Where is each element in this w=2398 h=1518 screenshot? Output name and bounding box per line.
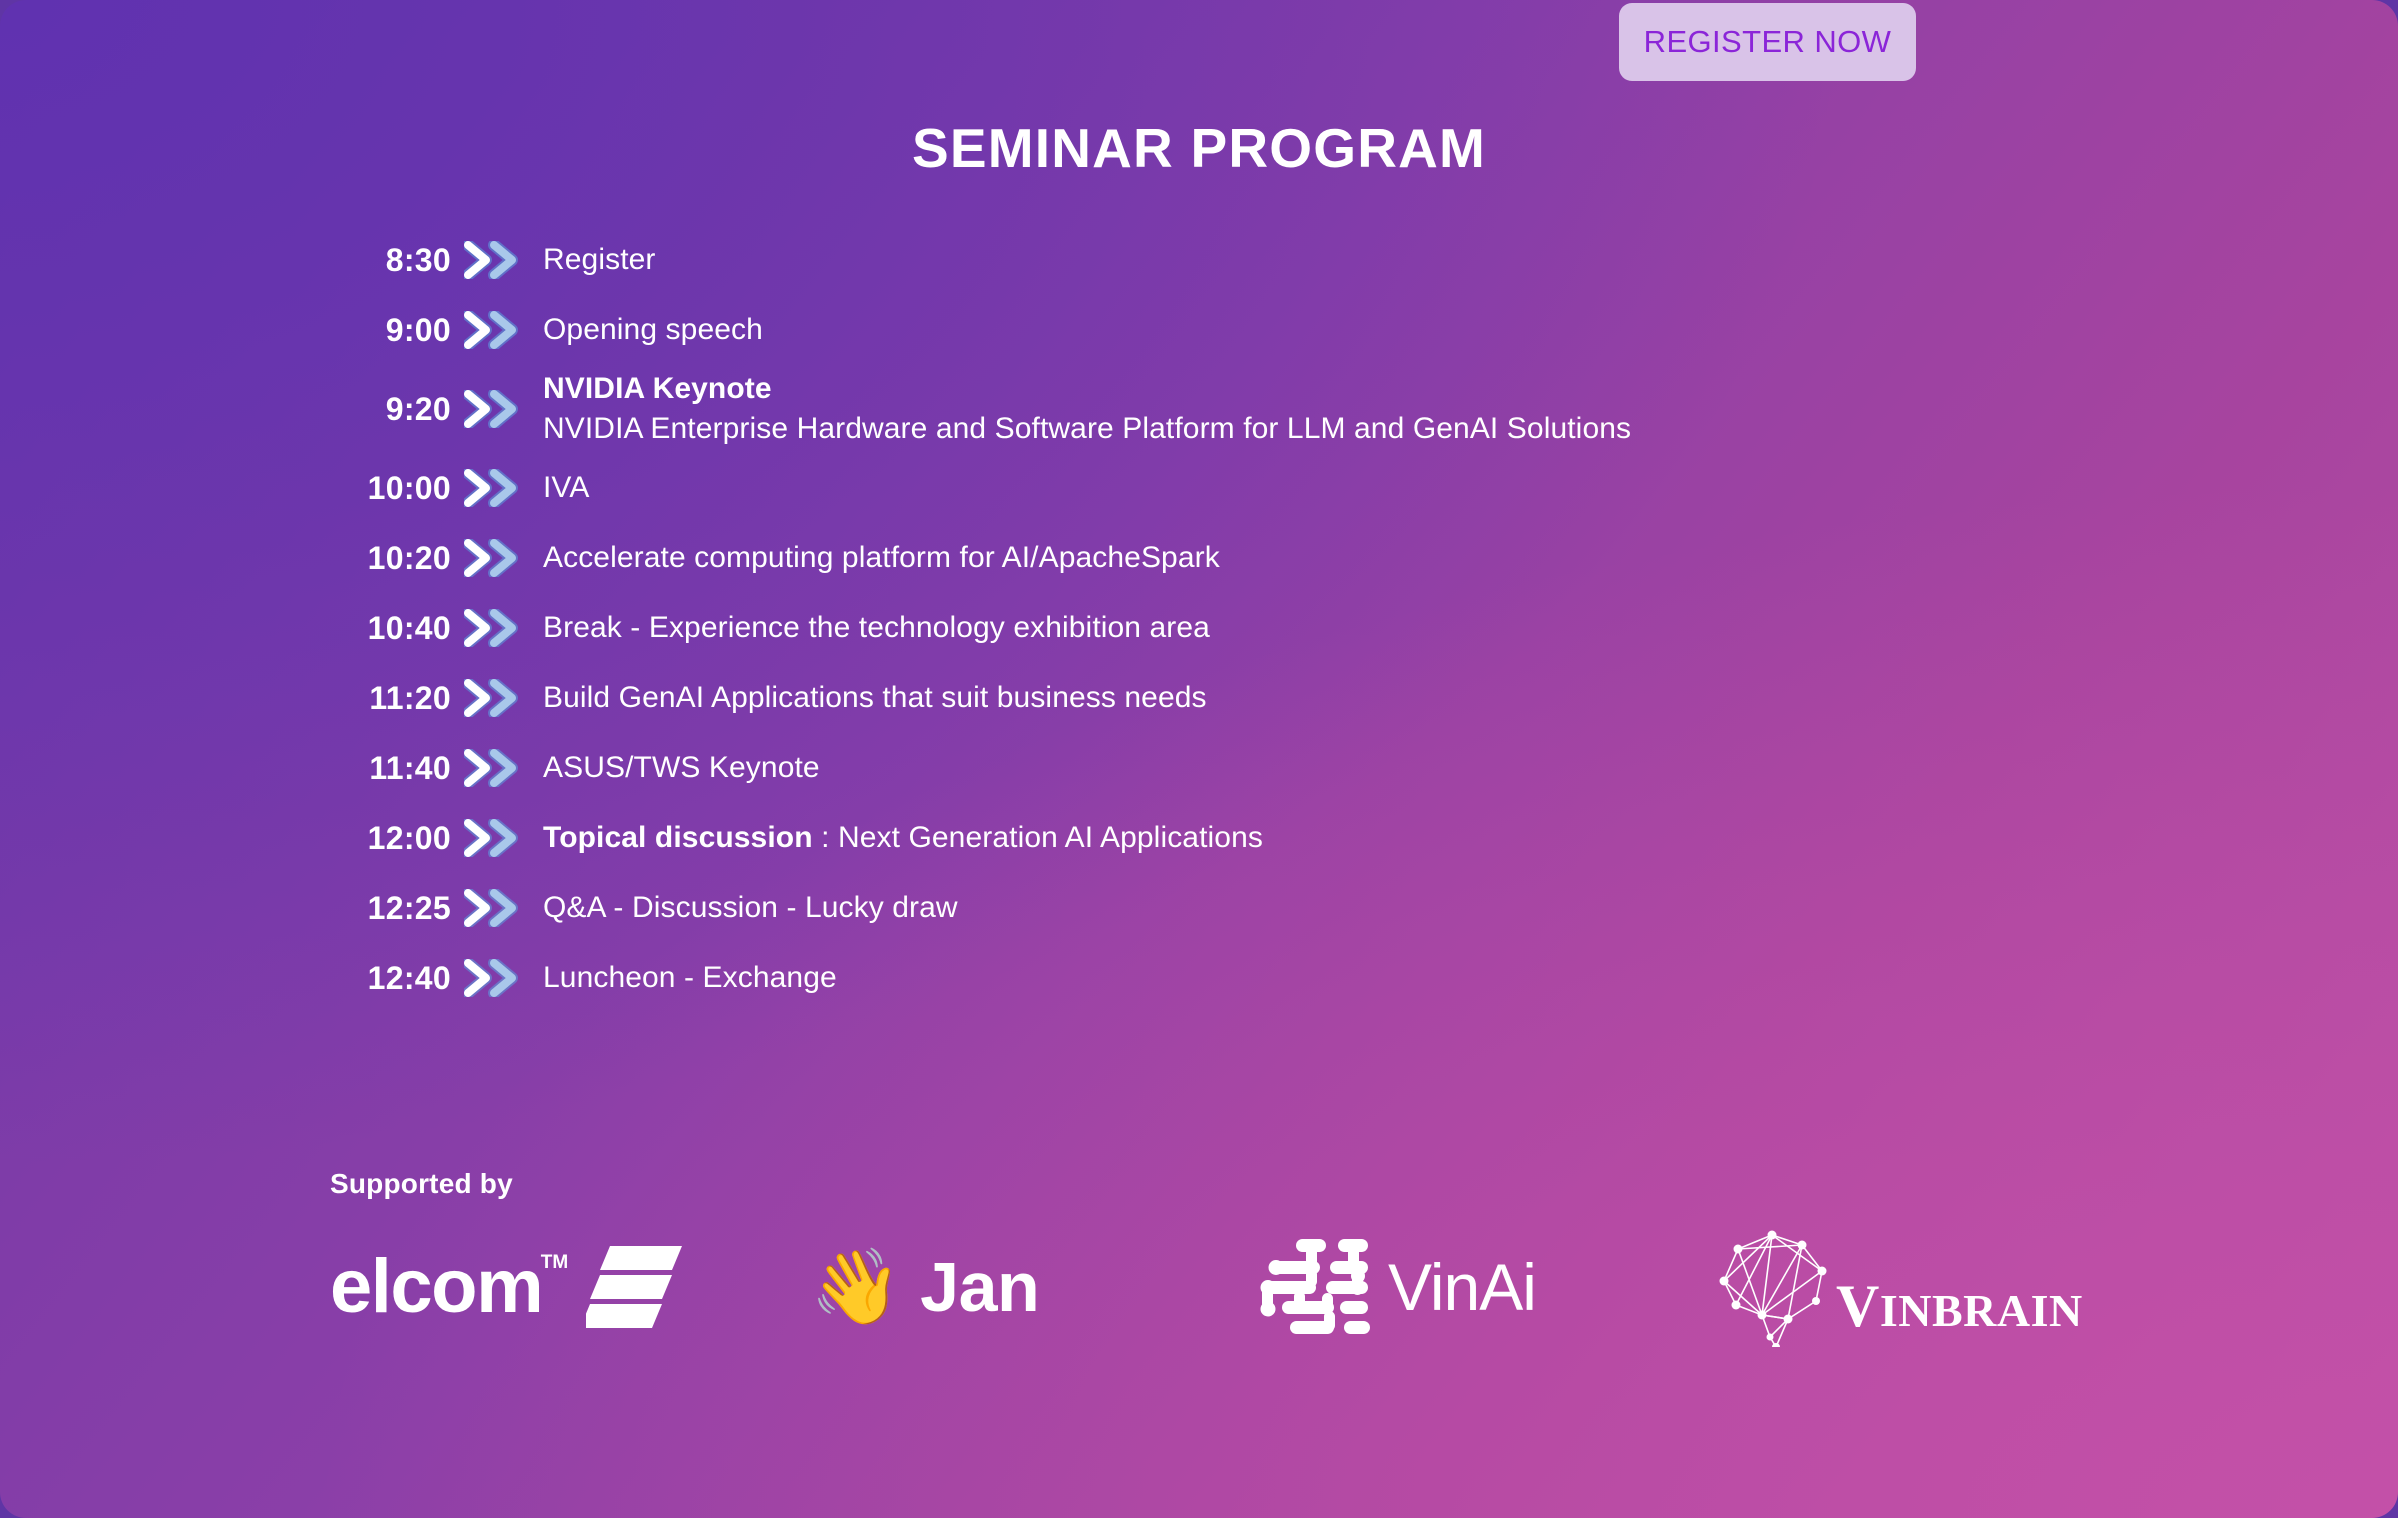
double-chevron-right-icon xyxy=(455,389,529,429)
schedule-row: 9:20NVIDIA KeynoteNVIDIA Enterprise Hard… xyxy=(330,365,2030,453)
schedule-title: NVIDIA Keynote xyxy=(543,372,772,405)
schedule-time: 12:00 xyxy=(330,820,455,857)
schedule-description: ASUS/TWS Keynote xyxy=(529,748,820,788)
schedule-description: Luncheon - Exchange xyxy=(529,958,837,998)
supported-by-section: Supported by elcomTM 👋 Jan xyxy=(330,1168,2230,1352)
schedule-row: 12:40Luncheon - Exchange xyxy=(330,943,2030,1013)
schedule-time: 11:20 xyxy=(330,680,455,717)
schedule-title: Luncheon - Exchange xyxy=(543,961,837,994)
double-chevron-right-icon xyxy=(455,538,529,578)
sponsor-logo-row: elcomTM 👋 Jan xyxy=(330,1222,2230,1352)
double-chevron-right-icon xyxy=(455,240,529,280)
schedule-description: Break - Experience the technology exhibi… xyxy=(529,608,1210,648)
schedule-description: Topical discussion : Next Generation AI … xyxy=(529,818,1263,858)
elcom-wordmark: elcomTM xyxy=(330,1249,542,1325)
double-chevron-right-icon xyxy=(455,608,529,648)
schedule-time: 10:20 xyxy=(330,540,455,577)
vinai-circuit-icon xyxy=(1260,1233,1372,1342)
schedule-title: Opening speech xyxy=(543,313,763,346)
seminar-schedule-list: 8:30Register9:00Opening speech9:20NVIDIA… xyxy=(330,225,2030,1013)
schedule-row: 12:00Topical discussion : Next Generatio… xyxy=(330,803,2030,873)
schedule-time: 8:30 xyxy=(330,242,455,279)
vinai-wordmark: VinAi xyxy=(1388,1254,1536,1320)
poster-canvas: REGISTER NOW SEMINAR PROGRAM 8:30Registe… xyxy=(0,0,2398,1518)
elcom-e-bars-icon xyxy=(586,1242,682,1333)
sponsor-logo-jan[interactable]: 👋 Jan xyxy=(810,1222,1260,1352)
schedule-description: Accelerate computing platform for AI/Apa… xyxy=(529,538,1220,578)
schedule-row: 8:30Register xyxy=(330,225,2030,295)
schedule-time: 10:00 xyxy=(330,470,455,507)
schedule-row: 10:40Break - Experience the technology e… xyxy=(330,593,2030,663)
double-chevron-right-icon xyxy=(455,468,529,508)
schedule-title-trailing: : Next Generation AI Applications xyxy=(813,821,1263,854)
schedule-time: 9:20 xyxy=(330,391,455,428)
sponsor-logo-vinai[interactable]: VinAi xyxy=(1260,1222,1710,1352)
schedule-row: 10:20Accelerate computing platform for A… xyxy=(330,523,2030,593)
double-chevron-right-icon xyxy=(455,310,529,350)
schedule-subtitle: NVIDIA Enterprise Hardware and Software … xyxy=(543,409,1631,449)
schedule-row: 9:00Opening speech xyxy=(330,295,2030,365)
schedule-title: IVA xyxy=(543,471,589,504)
double-chevron-right-icon xyxy=(455,818,529,858)
supported-by-label: Supported by xyxy=(330,1168,2230,1200)
schedule-description: Opening speech xyxy=(529,310,763,350)
schedule-title: Register xyxy=(543,243,656,276)
schedule-title: ASUS/TWS Keynote xyxy=(543,751,820,784)
waving-hand-icon: 👋 xyxy=(810,1250,902,1324)
vinbrain-wordmark: VINBRAIN xyxy=(1836,1276,2083,1336)
schedule-description: Q&A - Discussion - Lucky draw xyxy=(529,888,958,928)
schedule-description: NVIDIA KeynoteNVIDIA Enterprise Hardware… xyxy=(529,369,1631,448)
schedule-title: Q&A - Discussion - Lucky draw xyxy=(543,891,958,924)
schedule-title: Break - Experience the technology exhibi… xyxy=(543,611,1210,644)
double-chevron-right-icon xyxy=(455,748,529,788)
schedule-description: Register xyxy=(529,240,656,280)
elcom-wordmark-text: elcom xyxy=(330,1244,542,1329)
page-title: SEMINAR PROGRAM xyxy=(0,116,2398,180)
schedule-time: 11:40 xyxy=(330,750,455,787)
double-chevron-right-icon xyxy=(455,678,529,718)
trademark-icon: TM xyxy=(541,1253,568,1272)
schedule-description: IVA xyxy=(529,468,589,508)
register-now-button[interactable]: REGISTER NOW xyxy=(1619,3,1916,81)
schedule-description: Build GenAI Applications that suit busin… xyxy=(529,678,1207,718)
schedule-time: 9:00 xyxy=(330,312,455,349)
schedule-time: 12:25 xyxy=(330,890,455,927)
schedule-title: Accelerate computing platform for AI/Apa… xyxy=(543,541,1220,574)
wireframe-brain-icon xyxy=(1710,1223,1842,1352)
double-chevron-right-icon xyxy=(455,958,529,998)
schedule-time: 12:40 xyxy=(330,960,455,997)
schedule-title: Topical discussion xyxy=(543,821,813,854)
schedule-row: 12:25Q&A - Discussion - Lucky draw xyxy=(330,873,2030,943)
schedule-row: 10:00IVA xyxy=(330,453,2030,523)
sponsor-logo-vinbrain[interactable]: VINBRAIN xyxy=(1710,1222,2110,1352)
schedule-row: 11:20Build GenAI Applications that suit … xyxy=(330,663,2030,733)
header-bar: REGISTER NOW xyxy=(0,0,2398,96)
schedule-title: Build GenAI Applications that suit busin… xyxy=(543,681,1207,714)
schedule-row: 11:40ASUS/TWS Keynote xyxy=(330,733,2030,803)
jan-wordmark: Jan xyxy=(920,1252,1039,1322)
double-chevron-right-icon xyxy=(455,888,529,928)
schedule-time: 10:40 xyxy=(330,610,455,647)
sponsor-logo-elcom[interactable]: elcomTM xyxy=(330,1222,810,1352)
